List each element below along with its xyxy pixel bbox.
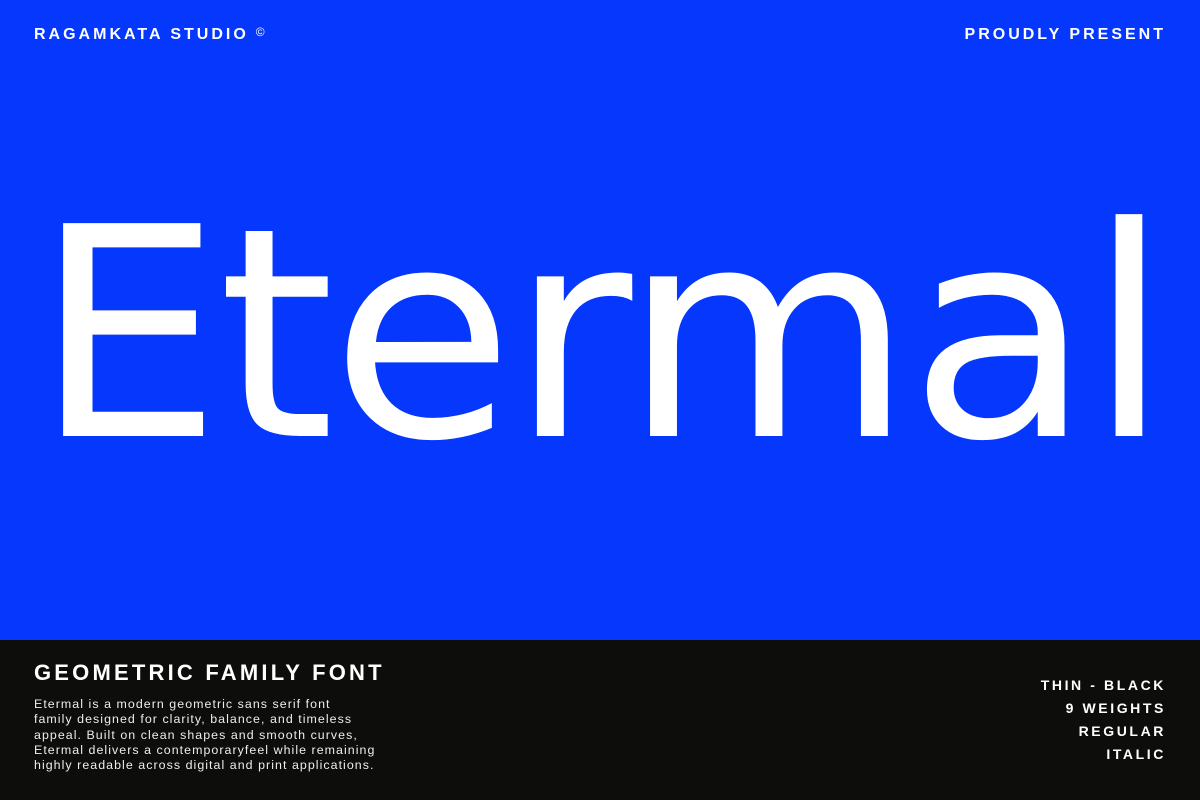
description-line: highly readable across digital and print… bbox=[34, 758, 385, 773]
studio-credit: RAGAMKATA STUDIO © bbox=[34, 27, 265, 43]
copyright-icon: © bbox=[256, 26, 265, 38]
footer-description: Etermal is a modern geometric sans serif… bbox=[34, 697, 385, 773]
studio-name: RAGAMKATA STUDIO bbox=[34, 27, 249, 43]
description-line: Etermal is a modern geometric sans serif… bbox=[34, 697, 385, 712]
display-word: Etermal bbox=[34, 189, 1166, 481]
spec-style-regular: REGULAR bbox=[1041, 720, 1166, 743]
hero-panel: RAGAMKATA STUDIO © PROUDLY PRESENT Eterm… bbox=[0, 0, 1200, 640]
header-bar: RAGAMKATA STUDIO © PROUDLY PRESENT bbox=[0, 0, 1200, 70]
footer-heading: GEOMETRIC FAMILY FONT bbox=[34, 662, 385, 684]
description-line: Etermal delivers a contemporaryfeel whil… bbox=[34, 743, 385, 758]
display-word-container: Etermal bbox=[0, 185, 1200, 485]
footer-panel: GEOMETRIC FAMILY FONT Etermal is a moder… bbox=[0, 640, 1200, 800]
font-specimen-poster: RAGAMKATA STUDIO © PROUDLY PRESENT Eterm… bbox=[0, 0, 1200, 800]
spec-weight-range: THIN - BLACK bbox=[1041, 674, 1166, 697]
spec-weight-count: 9 WEIGHTS bbox=[1041, 697, 1166, 720]
footer-left-column: GEOMETRIC FAMILY FONT Etermal is a moder… bbox=[34, 662, 385, 773]
spec-style-italic: ITALIC bbox=[1041, 743, 1166, 766]
description-line: appeal. Built on clean shapes and smooth… bbox=[34, 728, 385, 743]
present-tagline: PROUDLY PRESENT bbox=[965, 27, 1166, 43]
description-line: family designed for clarity, balance, an… bbox=[34, 712, 385, 727]
footer-specs-column: THIN - BLACK 9 WEIGHTS REGULAR ITALIC bbox=[1041, 662, 1166, 766]
